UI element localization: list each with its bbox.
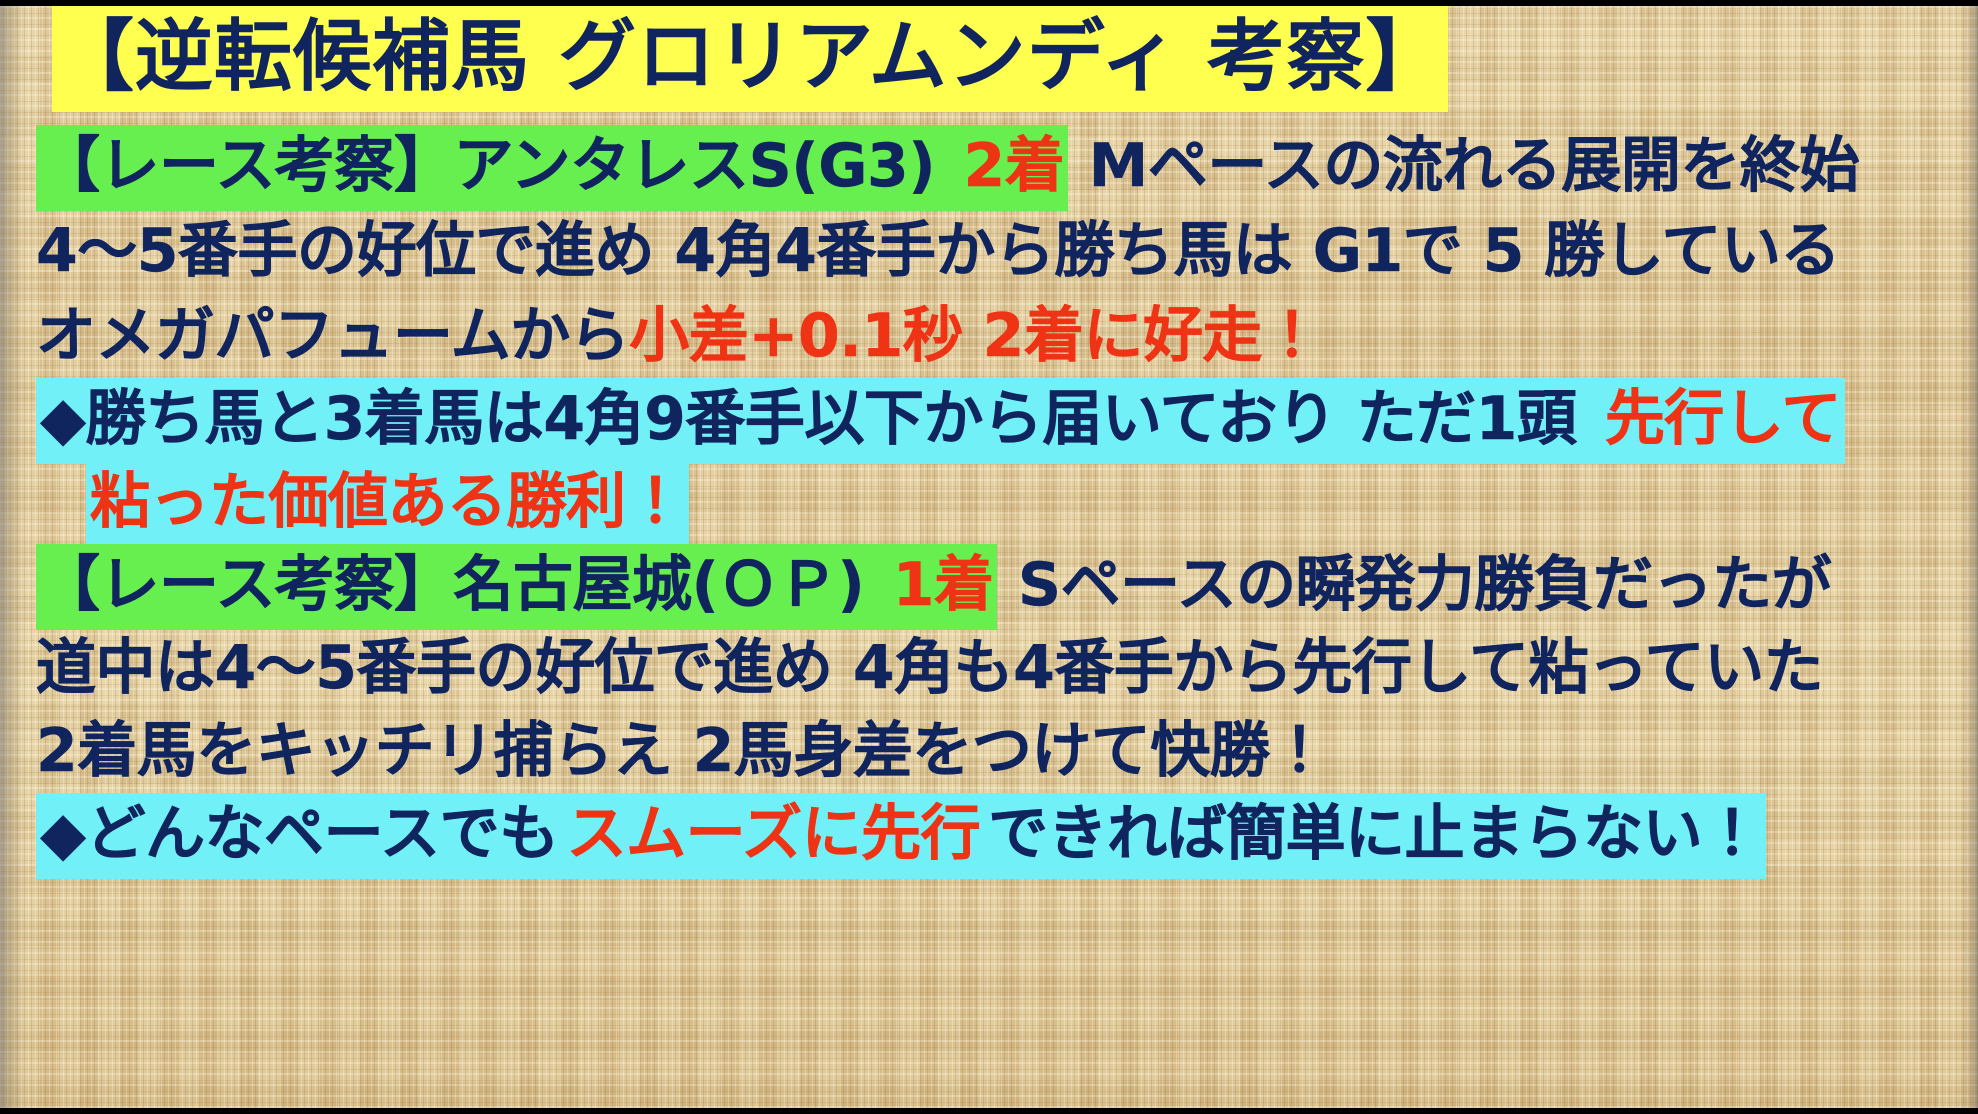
text-line-10: ◆どんなペースでもスムーズに先行できれば簡単に止まらない！ xyxy=(36,804,1766,889)
right-edge-shading xyxy=(1962,6,1978,1108)
slide-title-text: 【逆転候補馬 グロリアムンディ 考察】 xyxy=(52,6,1448,112)
left-edge-shading xyxy=(0,6,26,1108)
text-run: 小差+0.1秒 2着に好走！ xyxy=(629,301,1321,371)
text-line-3: 4〜5番手の好位で進め 4角4番手から勝ち馬は G1で 5 勝している xyxy=(36,221,1840,306)
text-run: 2着馬をキッチリ捕らえ 2馬身差をつけて快勝！ xyxy=(36,716,1329,786)
text-run: できれば簡単に止まらない！ xyxy=(984,793,1766,879)
text-run: 4〜5番手の好位で進め 4角4番手から勝ち馬は G1で 5 勝している xyxy=(36,216,1840,286)
text-run: 道中は4〜5番手の好位で進め 4角も4番手から先行して粘っていた xyxy=(36,633,1823,703)
text-run: 【レース考察】名古屋城(ＯＰ) xyxy=(36,544,889,630)
text-run: 粘った価値ある勝利！ xyxy=(86,461,689,547)
slide-text-body: 【逆転候補馬 グロリアムンディ 考察】 【レース考察】アンタレスS(G3) 2着… xyxy=(0,6,1978,22)
text-run: スムーズに先行 xyxy=(563,793,985,879)
text-run: 【レース考察】アンタレスS(G3) xyxy=(36,125,960,211)
text-line-8: 道中は4〜5番手の好位で進め 4角も4番手から先行して粘っていた xyxy=(36,638,1823,723)
text-run: 2着 xyxy=(960,125,1069,211)
text-line-2: 【レース考察】アンタレスS(G3) 2着 Mペースの流れる展開を終始 xyxy=(36,136,1859,221)
text-run: オメガパフュームから xyxy=(36,301,629,371)
text-run: ◆どんなペースでも xyxy=(36,793,563,879)
text-run: Mペースの流れる展開を終始 xyxy=(1068,131,1859,201)
analysis-slide: 【逆転候補馬 グロリアムンディ 考察】 【レース考察】アンタレスS(G3) 2着… xyxy=(0,0,1978,1114)
text-run: 先行して xyxy=(1601,378,1845,464)
text-run: ◆勝ち馬と3着馬は4角9番手以下から届いており ただ1頭 xyxy=(36,378,1601,464)
text-line-7: 【レース考察】名古屋城(ＯＰ) 1着 Sペースの瞬発力勝負だったが xyxy=(36,555,1831,640)
text-run: 1着 xyxy=(889,544,998,630)
text-run: Sペースの瞬発力勝負だったが xyxy=(997,550,1831,620)
slide-title: 【逆転候補馬 グロリアムンディ 考察】 xyxy=(52,18,1448,103)
